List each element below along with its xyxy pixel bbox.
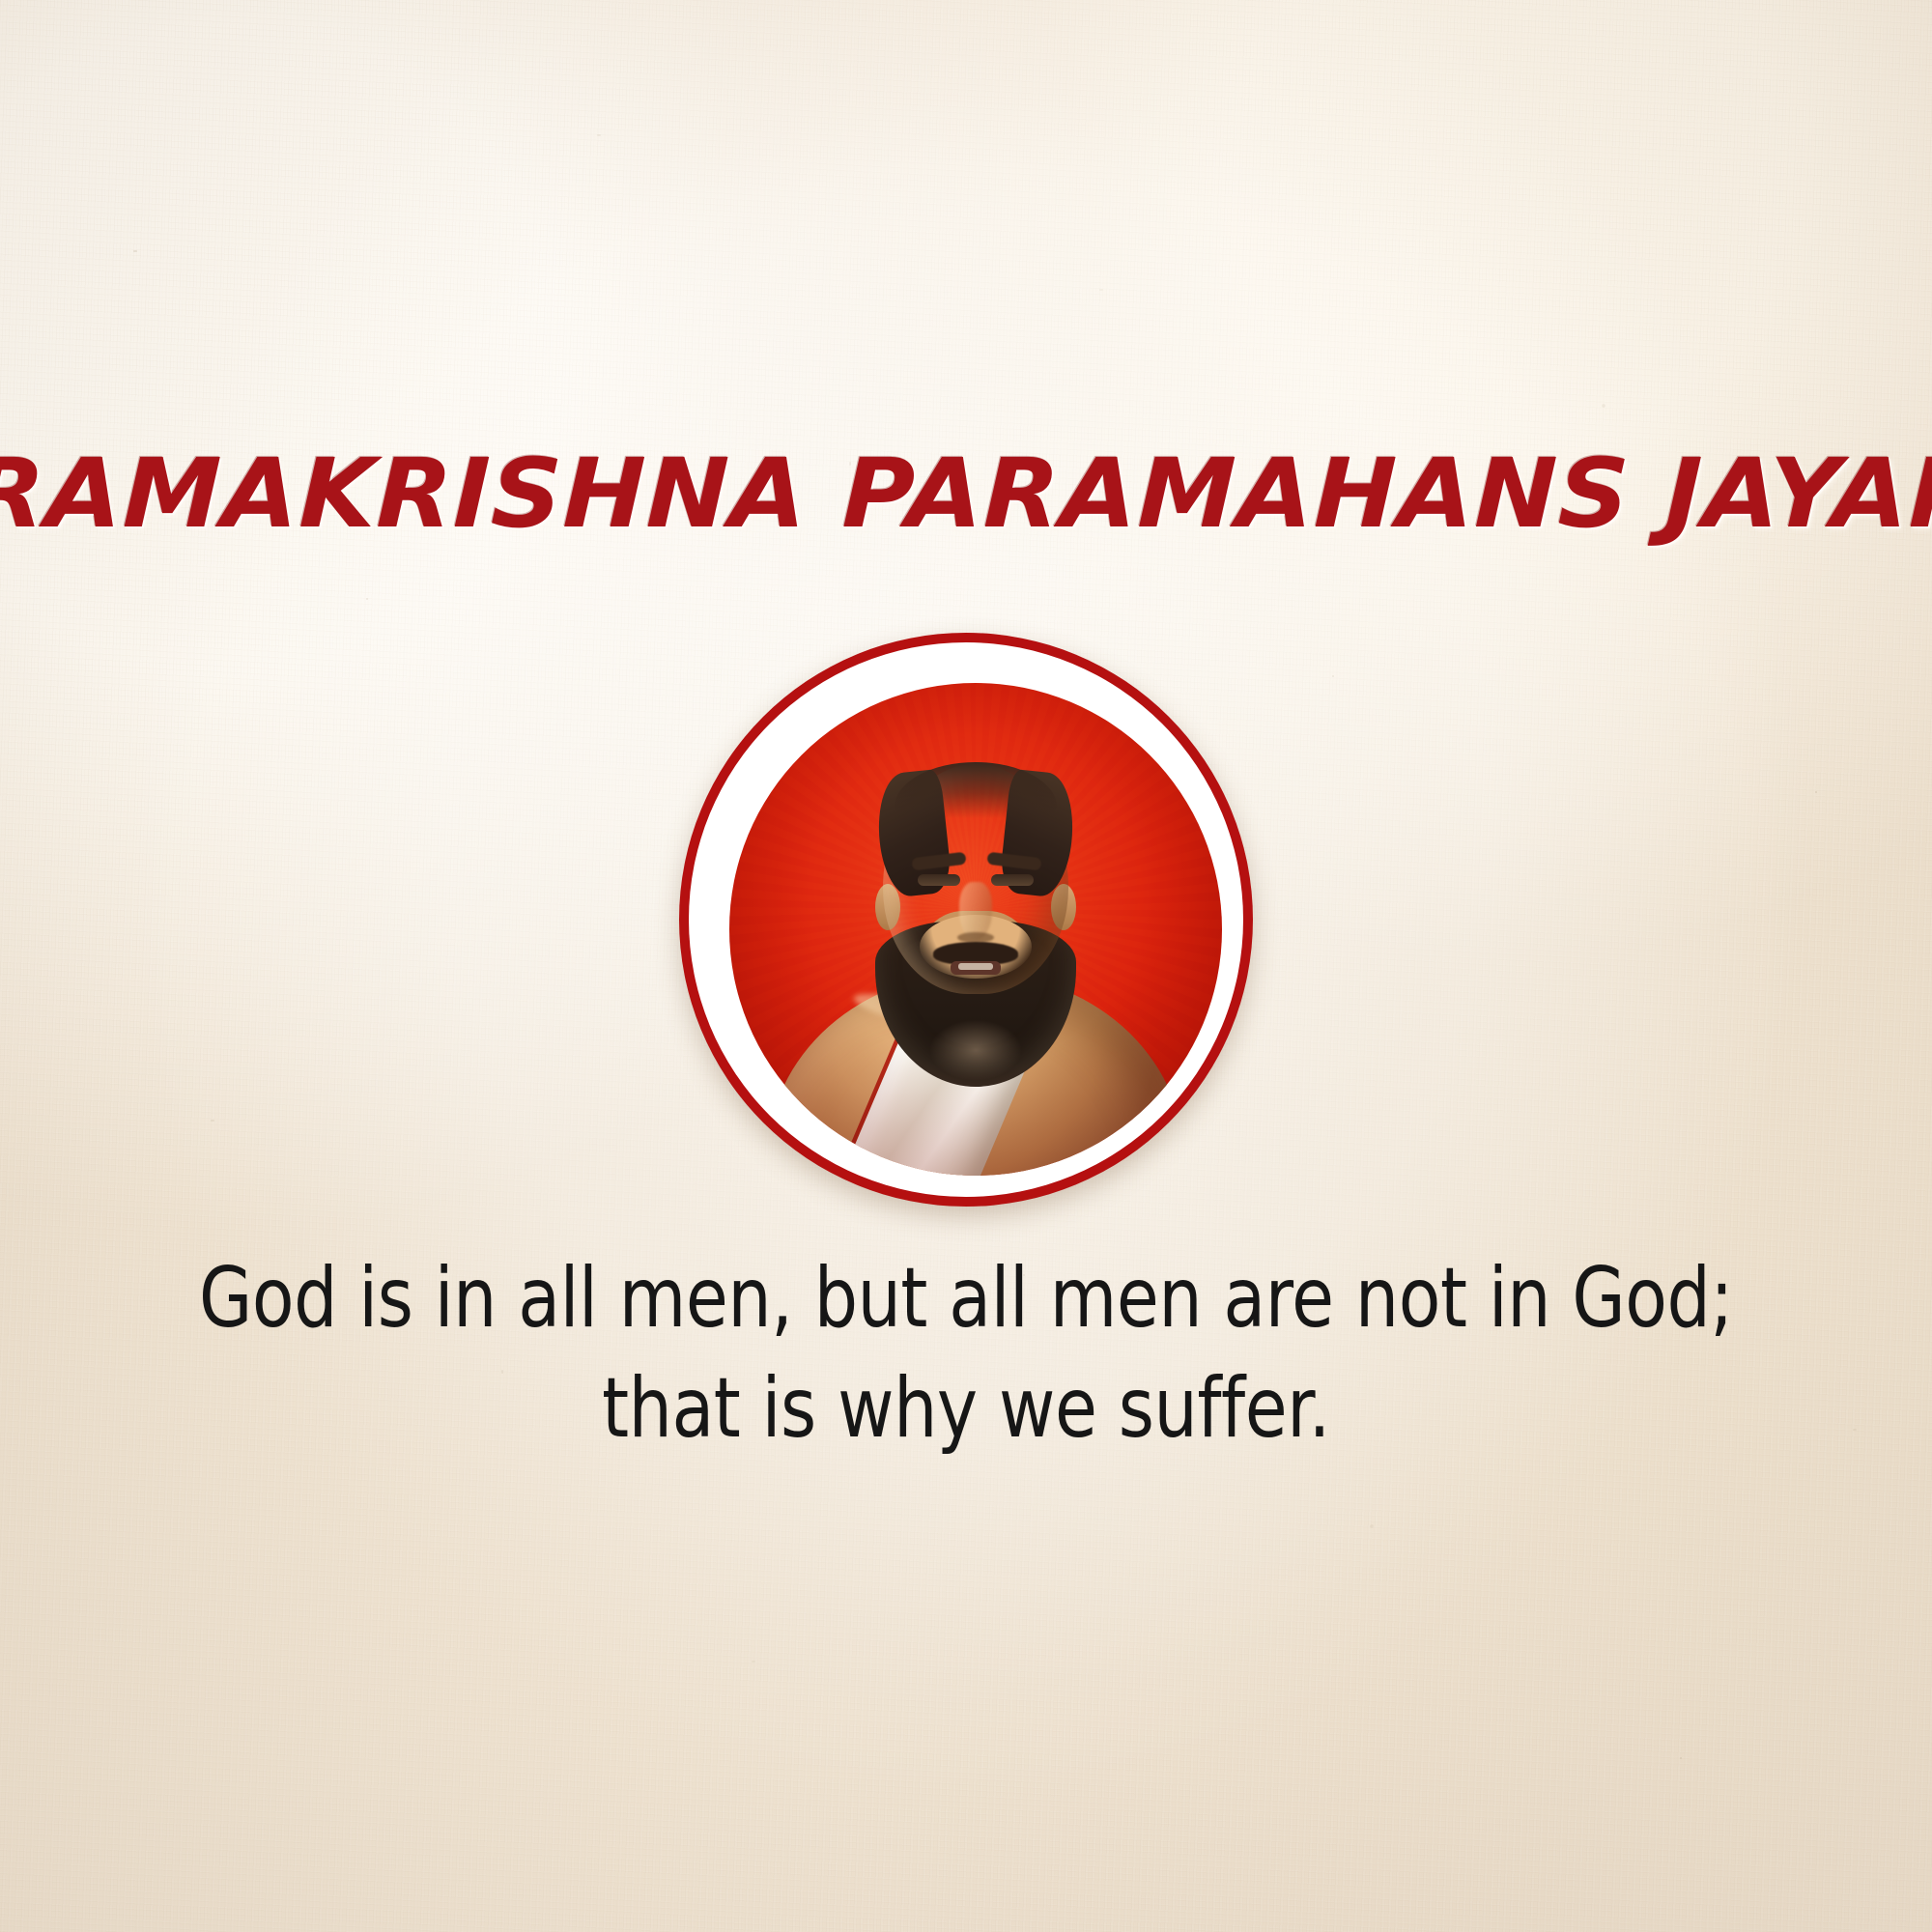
quote-line-2: that is why we suffer. [164, 1353, 1768, 1463]
portrait-photo-vignette [729, 683, 1222, 1176]
portrait-medallion [679, 633, 1253, 1207]
portrait-photo [729, 683, 1222, 1176]
quote-block: God is in all men, but all men are not i… [0, 1243, 1932, 1463]
portrait-white-ring [689, 642, 1243, 1197]
page-title-text: RAMAKRISHNA PARAMAHANS JAYANTI [0, 446, 1932, 542]
quote-line-1: God is in all men, but all men are not i… [164, 1243, 1768, 1353]
poster-canvas: RAMAKRISHNA PARAMAHANS JAYANTI [0, 0, 1932, 1932]
page-title: RAMAKRISHNA PARAMAHANS JAYANTI [0, 446, 1932, 542]
